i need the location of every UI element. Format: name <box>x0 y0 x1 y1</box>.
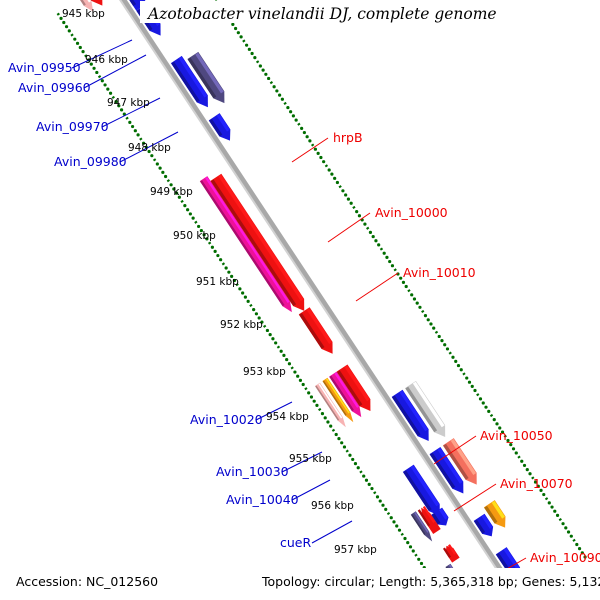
genome-map-viewer: 945 kbp946 kbp947 kbp948 kbp949 kbp950 k… <box>0 0 600 600</box>
scale-tick-dot <box>271 337 274 340</box>
ruler-tick-label-11: 956 kbp <box>311 500 354 512</box>
scale-tick-dot <box>406 541 409 544</box>
leader-line-Avin_10000 <box>328 213 370 242</box>
page-title: Azotobacter vinelandii DJ, complete geno… <box>146 5 497 23</box>
scale-tick-dash <box>250 305 251 307</box>
scale-tick-dot <box>451 356 454 359</box>
gene-glyph[interactable] <box>200 176 296 315</box>
scale-tick-dot <box>252 308 255 311</box>
scale-tick-dot <box>348 454 351 457</box>
scale-tick-dot <box>528 472 531 475</box>
scale-tick-dot <box>225 266 228 269</box>
gene-label-cueR[interactable]: cueR <box>280 535 311 550</box>
accession-label: Accession: NC_012560 <box>16 574 158 589</box>
scale-tick-dash <box>127 117 128 119</box>
gene-shadow <box>68 0 86 6</box>
scale-tick-dot <box>262 69 265 72</box>
gene-label-Avin_10020[interactable]: Avin_10020 <box>190 412 263 427</box>
scale-tick-dot <box>322 160 325 163</box>
scale-tick-dot <box>186 208 189 211</box>
scale-tick-dash <box>182 201 183 203</box>
scale-tick-dot <box>388 260 391 263</box>
scale-tick-dot <box>319 156 322 159</box>
scale-tick-dot <box>362 474 365 477</box>
scale-tick-dot <box>365 479 368 482</box>
ruler-tick-label-0: 945 kbp <box>62 8 105 20</box>
scale-tick-dot <box>326 420 329 423</box>
scale-tick-dash <box>388 513 389 515</box>
gene-label-Avin_10010[interactable]: Avin_10010 <box>403 265 476 280</box>
scale-tick-dot <box>150 154 153 157</box>
scale-tick-dot <box>355 210 358 213</box>
scale-tick-dash <box>402 533 403 535</box>
scale-tick-dot <box>392 520 395 523</box>
scale-tick-dash <box>518 456 519 458</box>
scale-tick-dot <box>248 48 251 51</box>
scale-tick-dash <box>305 388 306 390</box>
scale-tick-dot <box>299 379 302 382</box>
scale-tick-dash <box>422 311 423 313</box>
scale-tick-dot <box>302 383 305 386</box>
scale-tick-dot <box>357 466 360 469</box>
scale-tick-dot <box>189 212 192 215</box>
scale-tick-dot <box>253 56 256 59</box>
scale-tick-dot <box>420 562 423 565</box>
scale-tick-dash <box>573 539 574 541</box>
scale-tick-dot <box>523 464 526 467</box>
scale-tick-dot <box>377 243 380 246</box>
scale-tick-dot <box>81 50 84 53</box>
scale-tick-dot <box>363 222 366 225</box>
ruler-tick-label-5: 950 kbp <box>173 230 216 242</box>
scale-tick-dot <box>103 83 106 86</box>
scale-tick-dash <box>463 373 464 375</box>
scale-tick-dot <box>264 73 267 76</box>
gene-glyph[interactable] <box>443 543 460 562</box>
scale-tick-dot <box>553 510 556 513</box>
ruler-tick-label-9: 954 kbp <box>266 411 309 423</box>
scale-tick-dot <box>76 42 79 45</box>
scale-tick-dot <box>526 468 529 471</box>
scale-tick-dash <box>450 352 451 354</box>
scale-tick-dot <box>473 389 476 392</box>
scale-tick-dot <box>101 79 104 82</box>
genome-map-canvas[interactable]: 945 kbp946 kbp947 kbp948 kbp949 kbp950 k… <box>0 0 600 600</box>
scale-tick-dot <box>303 131 306 134</box>
scale-tick-dot <box>457 364 460 367</box>
scale-tick-dash <box>353 207 354 209</box>
scale-tick-dot <box>192 216 195 219</box>
scale-tick-dot <box>335 433 338 436</box>
scale-tick-dot <box>244 296 247 299</box>
scale-tick-dot <box>341 189 344 192</box>
scale-tick-dot <box>68 29 71 32</box>
scale-tick-dot <box>134 129 137 132</box>
scale-tick-dot <box>399 277 402 280</box>
scale-tick-dot <box>512 447 515 450</box>
scale-tick-dot <box>358 214 361 217</box>
scale-tick-dot <box>109 92 112 95</box>
scale-tick-dot <box>321 412 324 415</box>
scale-tick-dot <box>282 354 285 357</box>
scale-tick-dash <box>292 367 293 369</box>
ruler-tick-label-10: 955 kbp <box>289 453 332 465</box>
scale-tick-dot <box>383 252 386 255</box>
scale-tick-dot <box>266 329 269 332</box>
scale-tick-dot <box>310 395 313 398</box>
scale-tick-dot <box>273 85 276 88</box>
scale-tick-dot <box>398 529 401 532</box>
scale-tick-dot <box>369 231 372 234</box>
scale-tick-dot <box>219 258 222 261</box>
scale-tick-dot <box>350 202 353 205</box>
scale-tick-dot <box>227 271 230 274</box>
scale-tick-dot <box>161 171 164 174</box>
gene-glyph[interactable] <box>210 174 309 315</box>
ruler-tick-label-8: 953 kbp <box>243 366 286 378</box>
scale-tick-dash <box>360 471 361 473</box>
scale-tick-dot <box>443 343 446 346</box>
scale-tick-dot <box>214 250 217 253</box>
scale-tick-dot <box>317 152 320 155</box>
scale-tick-dot <box>328 168 331 171</box>
scale-tick-dot <box>65 25 68 28</box>
scale-tick-dot <box>314 148 317 151</box>
scale-tick-dash <box>223 263 224 265</box>
scale-tick-dash <box>99 76 100 78</box>
scale-tick-dot <box>417 558 420 561</box>
scale-tick-dot <box>468 381 471 384</box>
scale-tick-dot <box>183 204 186 207</box>
scale-tick-dot <box>281 98 284 101</box>
gene-label-Avin_09970[interactable]: Avin_09970 <box>36 119 109 134</box>
scale-tick-dot <box>79 46 82 49</box>
gene-label-Avin_10090[interactable]: Avin_10090 <box>530 550 600 565</box>
scale-tick-dash <box>154 159 155 161</box>
scale-tick-dot <box>288 362 291 365</box>
scale-tick-dot <box>429 322 432 325</box>
scale-tick-dot <box>308 139 311 142</box>
scale-tick-dot <box>410 293 413 296</box>
scale-tick-dot <box>241 291 244 294</box>
ruler-tick-label-2: 947 kbp <box>107 97 150 109</box>
scale-tick-dot <box>128 121 131 124</box>
scale-tick-dash <box>168 180 169 182</box>
scale-tick-dot <box>567 530 570 533</box>
scale-tick-dot <box>354 462 357 465</box>
scale-tick-dot <box>370 487 373 490</box>
scale-tick-dot <box>197 225 200 228</box>
scale-tick-dot <box>520 460 523 463</box>
scale-tick-dash <box>381 248 382 250</box>
scale-tick-dot <box>245 44 248 47</box>
scale-tick-dot <box>251 52 254 55</box>
scale-tick-dot <box>280 350 283 353</box>
scale-tick-dot <box>446 347 449 350</box>
scale-tick-dot <box>106 87 109 90</box>
scale-tick-dot <box>405 285 408 288</box>
scale-tick-dot <box>390 516 393 519</box>
scale-tick-dash <box>140 138 141 140</box>
gene-label-hrpB[interactable]: hrpB <box>333 130 363 145</box>
gene-label-Avin_10030[interactable]: Avin_10030 <box>216 464 289 479</box>
scale-tick-dot <box>484 406 487 409</box>
gene-body[interactable] <box>210 174 309 315</box>
scale-tick-dot <box>460 368 463 371</box>
scale-tick-dash <box>257 61 258 63</box>
scale-tick-dot <box>416 302 419 305</box>
scale-tick-dot <box>471 385 474 388</box>
scale-tick-dot <box>340 441 343 444</box>
scale-tick-dash <box>264 325 265 327</box>
scale-tick-dot <box>324 416 327 419</box>
scale-tick-dot <box>402 281 405 284</box>
scale-tick-dot <box>427 318 430 321</box>
scale-tick-dash <box>347 450 348 452</box>
scale-tick-dot <box>274 341 277 344</box>
scale-tick-dot <box>307 391 310 394</box>
scale-tick-dot <box>379 499 382 502</box>
scale-tick-dot <box>73 38 76 41</box>
scale-tick-dash <box>395 269 396 271</box>
scale-tick-dash <box>333 429 334 431</box>
scale-tick-dot <box>292 114 295 117</box>
scale-tick-dot <box>542 493 545 496</box>
scale-tick-dot <box>509 443 512 446</box>
scale-tick-dot <box>92 67 95 70</box>
scale-tick-dash <box>271 82 272 84</box>
scale-tick-dot <box>306 135 309 138</box>
scale-tick-dot <box>556 514 559 517</box>
scale-tick-dash <box>326 165 327 167</box>
scale-tick-dash <box>560 519 561 521</box>
scale-tick-dot <box>395 524 398 527</box>
scale-tick-dash <box>340 186 341 188</box>
scale-tick-dash <box>209 242 210 244</box>
scale-tick-dot <box>438 335 441 338</box>
gene-label-Avin_10070[interactable]: Avin_10070 <box>500 476 573 491</box>
scale-tick-dot <box>432 327 435 330</box>
scale-tick-dot <box>368 483 371 486</box>
scale-tick-dot <box>570 535 573 538</box>
scale-tick-dot <box>296 375 299 378</box>
scale-tick-dash <box>195 221 196 223</box>
scale-tick-dot <box>495 422 498 425</box>
scale-tick-dot <box>374 239 377 242</box>
ruler-tick-label-4: 949 kbp <box>150 186 193 198</box>
ruler-tick-label-12: 957 kbp <box>334 544 377 556</box>
scale-tick-dot <box>465 376 468 379</box>
scale-tick-dash <box>58 13 59 15</box>
leader-line-Avin_10010 <box>356 273 398 301</box>
scale-tick-dot <box>231 23 234 26</box>
ruler-tick-label-7: 952 kbp <box>220 319 263 331</box>
scale-tick-dot <box>403 537 406 540</box>
scale-tick-dot <box>381 504 384 507</box>
scale-tick-dot <box>343 445 346 448</box>
scale-tick-dot <box>413 297 416 300</box>
scale-tick-dot <box>548 501 551 504</box>
scale-tick-dash <box>367 227 368 229</box>
scale-tick-dot <box>412 549 415 552</box>
scale-tick-dot <box>391 264 394 267</box>
scale-tick-dot <box>482 401 485 404</box>
scale-tick-dot <box>131 125 134 128</box>
ruler-tick-label-1: 946 kbp <box>85 54 128 66</box>
scale-tick-dash <box>71 34 72 36</box>
gene-label-Avin_10000[interactable]: Avin_10000 <box>375 205 448 220</box>
scale-tick-dot <box>295 118 298 121</box>
scale-tick-dash <box>243 40 244 42</box>
gene-label-Avin_09960[interactable]: Avin_09960 <box>18 80 91 95</box>
scale-tick-dash <box>298 123 299 125</box>
scale-tick-dot <box>313 400 316 403</box>
scale-tick-dot <box>164 175 167 178</box>
scale-tick-dot <box>95 71 98 74</box>
scale-tick-dash <box>312 144 313 146</box>
scale-tick-dot <box>216 254 219 257</box>
leader-line-cueR <box>312 521 352 543</box>
scale-tick-dot <box>385 256 388 259</box>
scale-tick-dot <box>440 339 443 342</box>
scale-tick-dot <box>278 93 281 96</box>
scale-tick-dash <box>319 409 320 411</box>
gene-label-Avin_10040[interactable]: Avin_10040 <box>226 492 299 507</box>
scale-tick-dot <box>62 21 65 24</box>
scale-tick-dot <box>564 526 567 529</box>
scale-tick-dot <box>211 246 214 249</box>
scale-tick-dot <box>333 177 336 180</box>
scale-tick-dot <box>285 358 288 361</box>
scale-tick-dot <box>487 410 490 413</box>
scale-tick-dash <box>408 290 409 292</box>
scale-tick-dot <box>255 312 258 315</box>
scale-tick-dot <box>156 162 159 165</box>
genome-info-label: Topology: circular; Length: 5,365,318 bp… <box>261 574 600 589</box>
scale-tick-dash <box>436 331 437 333</box>
scale-tick-dash <box>415 554 416 556</box>
scale-tick-dot <box>418 306 421 309</box>
scale-tick-dash <box>491 415 492 417</box>
scale-tick-dash <box>546 498 547 500</box>
gene-label-Avin_09980[interactable]: Avin_09980 <box>54 154 127 169</box>
scale-tick-dot <box>372 235 375 238</box>
scale-tick-dot <box>575 543 578 546</box>
scale-tick-dot <box>561 522 564 525</box>
scale-tick-dot <box>493 418 496 421</box>
scale-tick-dot <box>329 425 332 428</box>
scale-tick-dot <box>293 370 296 373</box>
scale-tick-dot <box>330 173 333 176</box>
ruler-tick-label-3: 948 kbp <box>128 142 171 154</box>
gene-body[interactable] <box>200 176 296 315</box>
scale-tick-dot <box>479 397 482 400</box>
scale-tick-dot <box>515 451 518 454</box>
scale-tick-dot <box>300 127 303 130</box>
scale-tick-dot <box>247 300 250 303</box>
gene-label-Avin_09950[interactable]: Avin_09950 <box>8 60 81 75</box>
scale-tick-dash <box>278 346 279 348</box>
scale-tick-dot <box>376 495 379 498</box>
gene-label-Avin_10050[interactable]: Avin_10050 <box>480 428 553 443</box>
scale-tick-dot <box>240 35 243 38</box>
scale-tick-dot <box>136 133 139 136</box>
scale-tick-dot <box>336 181 339 184</box>
scale-tick-dot <box>344 193 347 196</box>
scale-tick-dot <box>275 89 278 92</box>
scale-tick-dot <box>234 27 237 30</box>
scale-tick-dot <box>384 508 387 511</box>
scale-tick-dot <box>337 437 340 440</box>
scale-tick-dot <box>550 505 553 508</box>
scale-tick-dot <box>269 333 272 336</box>
scale-tick-dot <box>237 31 240 34</box>
scale-tick-dot <box>409 545 412 548</box>
scale-tick-dash <box>374 492 375 494</box>
scale-tick-dot <box>351 458 354 461</box>
scale-tick-dot <box>286 106 289 109</box>
scale-tick-dot <box>158 167 161 170</box>
scale-tick-dot <box>289 110 292 113</box>
scale-tick-dot <box>347 198 350 201</box>
scale-tick-dot <box>267 77 270 80</box>
scale-tick-dot <box>315 404 318 407</box>
scale-tick-dash <box>285 103 286 105</box>
scale-tick-dot <box>454 360 457 363</box>
scale-tick-dash <box>477 394 478 396</box>
scale-tick-dot <box>424 314 427 317</box>
scale-tick-dot <box>259 64 262 67</box>
ruler-tick-label-6: 951 kbp <box>196 276 239 288</box>
